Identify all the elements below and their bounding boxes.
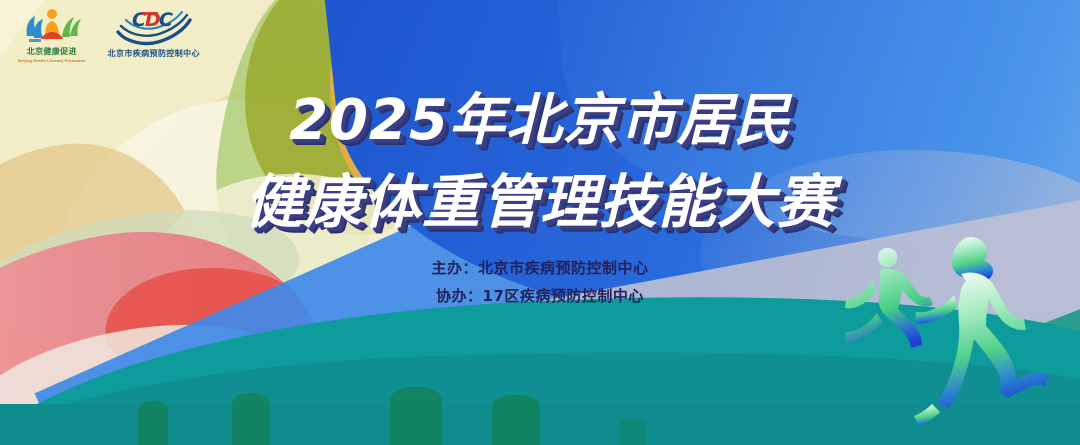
subtitle-co-organizer: 协办：17区疾病预防控制中心 [0,283,1080,311]
banner-subtitle: 主办：北京市疾病预防控制中心 协办：17区疾病预防控制中心 [0,255,1080,311]
event-banner: 北京健康促进 Beijing Health Literacy Promotion… [0,0,1080,445]
health-promotion-logo: 北京健康促进 Beijing Health Literacy Promotion [18,6,86,63]
decorative-stroke [492,395,540,445]
svg-text:C: C [159,9,173,31]
health-promotion-logo-caption: 北京健康促进 [27,46,77,57]
decorative-stroke [620,419,646,445]
cdc-logo: C D C 北京市疾病预防控制中心 [108,6,200,59]
health-promotion-mark-icon [21,6,83,44]
decorative-stroke [138,401,168,445]
banner-title: 2025年北京市居民 健康体重管理技能大赛 [0,88,1080,237]
decorative-stroke [232,393,270,445]
cdc-mark-icon: C D C [112,6,196,46]
logo-group: 北京健康促进 Beijing Health Literacy Promotion… [18,6,200,63]
health-promotion-logo-subcaption: Beijing Health Literacy Promotion [18,58,86,63]
cdc-logo-caption: 北京市疾病预防控制中心 [108,48,200,59]
title-line-2: 健康体重管理技能大赛 [0,168,1080,236]
title-line-1: 2025年北京市居民 [0,88,1080,154]
decorative-stroke [390,387,442,445]
subtitle-organizer: 主办：北京市疾病预防控制中心 [0,255,1080,283]
